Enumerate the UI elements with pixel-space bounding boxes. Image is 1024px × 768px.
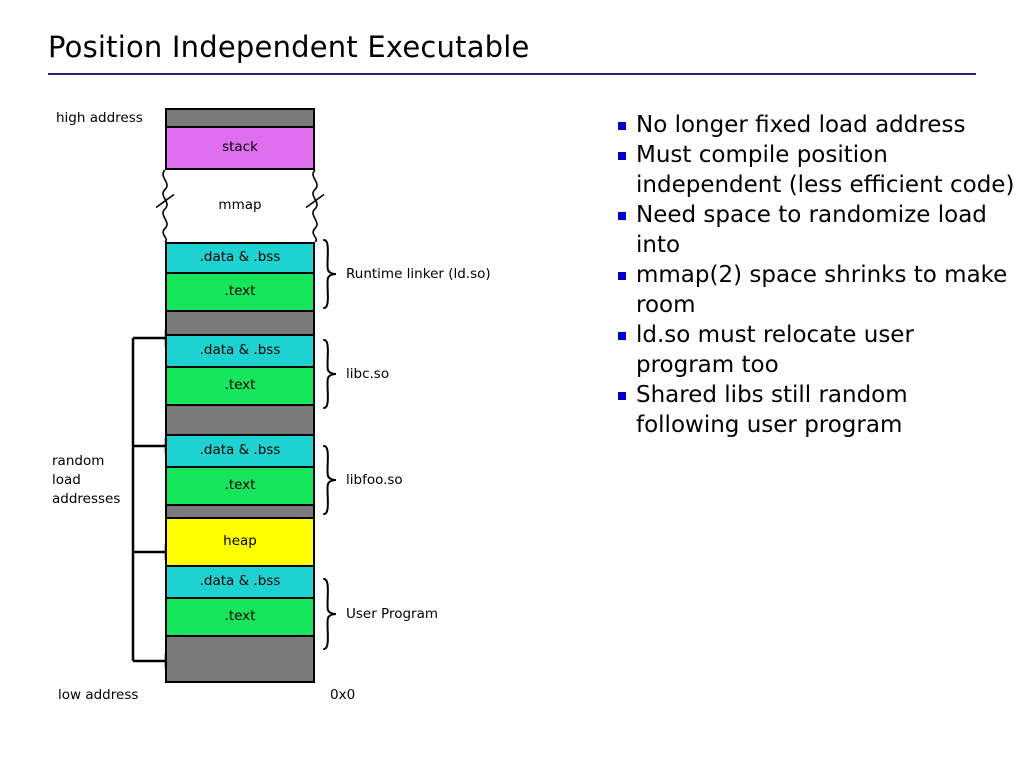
- group-libc: libc.so: [322, 338, 389, 410]
- mem-block-label: stack: [222, 141, 258, 155]
- random-label-line-3: addresses: [52, 490, 120, 509]
- bullet-text: No longer fixed load address: [636, 110, 1018, 140]
- mem-block-label: .text: [225, 479, 256, 493]
- mem-block-label: .data & .bss: [200, 575, 281, 589]
- curly-brace-icon: [322, 577, 338, 651]
- random-label-line-2: load: [52, 471, 120, 490]
- mem-block-libc-text: .text: [165, 366, 315, 404]
- bullet-square-icon: [618, 272, 626, 280]
- break-squiggle-icon: [304, 170, 326, 242]
- group-label: libc.so: [346, 366, 389, 382]
- high-address-label: high address: [56, 110, 143, 126]
- zero-address-label: 0x0: [330, 687, 355, 703]
- bullet-text: Need space to randomize load into: [636, 200, 1018, 260]
- bullet-square-icon: [618, 152, 626, 160]
- mem-block-ldso-text: .text: [165, 272, 315, 310]
- memory-layout-diagram: high address low address 0x0 random load…: [0, 0, 600, 768]
- mem-block-gap-3: [165, 504, 315, 517]
- memory-block-column: stackmmap.data & .bss.text.data & .bss.t…: [165, 108, 315, 683]
- bullet-item: Must compile position independent (less …: [618, 140, 1018, 200]
- curly-brace-icon: [322, 338, 338, 410]
- mem-block-label: .data & .bss: [200, 344, 281, 358]
- mem-block-mmap-gap: mmap: [165, 168, 315, 242]
- mem-block-libfoo-data-bss: .data & .bss: [165, 434, 315, 466]
- mem-block-label: .text: [225, 285, 256, 299]
- bullet-square-icon: [618, 212, 626, 220]
- bullet-square-icon: [618, 392, 626, 400]
- mem-block-top-reserved: [165, 108, 315, 126]
- bullet-item: ld.so must relocate user program too: [618, 320, 1018, 380]
- curly-brace-icon: [322, 444, 338, 516]
- mem-block-label: .data & .bss: [200, 251, 281, 265]
- mem-block-label: .text: [225, 610, 256, 624]
- bullet-item: mmap(2) space shrinks to make room: [618, 260, 1018, 320]
- mem-block-user-data-bss: .data & .bss: [165, 565, 315, 597]
- bullet-text: mmap(2) space shrinks to make room: [636, 260, 1018, 320]
- break-squiggle-icon: [154, 170, 176, 242]
- group-libfoo: libfoo.so: [322, 444, 403, 516]
- mem-block-gap-1: [165, 310, 315, 334]
- mem-block-user-text: .text: [165, 597, 315, 635]
- bullet-text: ld.so must relocate user program too: [636, 320, 1018, 380]
- low-address-label: low address: [58, 687, 138, 703]
- bullet-square-icon: [618, 122, 626, 130]
- mem-block-libc-data-bss: .data & .bss: [165, 334, 315, 366]
- curly-brace-icon: [322, 238, 338, 310]
- mem-block-bottom-reserved: [165, 635, 315, 683]
- mem-block-stack: stack: [165, 126, 315, 168]
- group-user-program: User Program: [322, 577, 438, 651]
- bullet-text: Shared libs still random following user …: [636, 380, 1018, 440]
- mem-block-libfoo-text: .text: [165, 466, 315, 504]
- random-label-line-1: random: [52, 452, 120, 471]
- mem-block-label: heap: [223, 535, 257, 549]
- bullet-item: No longer fixed load address: [618, 110, 1018, 140]
- mem-block-ldso-data-bss: .data & .bss: [165, 242, 315, 272]
- mem-block-heap: heap: [165, 517, 315, 565]
- bullet-square-icon: [618, 332, 626, 340]
- bullet-item: Need space to randomize load into: [618, 200, 1018, 260]
- group-runtime-linker: Runtime linker (ld.so): [322, 238, 491, 310]
- mem-block-label: .text: [225, 379, 256, 393]
- bullet-item: Shared libs still random following user …: [618, 380, 1018, 440]
- mem-block-label: .data & .bss: [200, 444, 281, 458]
- bullet-text: Must compile position independent (less …: [636, 140, 1018, 200]
- random-load-addresses-label: random load addresses: [52, 452, 120, 509]
- mem-block-gap-2: [165, 404, 315, 434]
- mem-block-label: mmap: [218, 199, 261, 213]
- group-label: Runtime linker (ld.so): [346, 266, 491, 282]
- bullet-list: No longer fixed load addressMust compile…: [618, 110, 1018, 440]
- group-label: User Program: [346, 606, 438, 622]
- group-label: libfoo.so: [346, 472, 403, 488]
